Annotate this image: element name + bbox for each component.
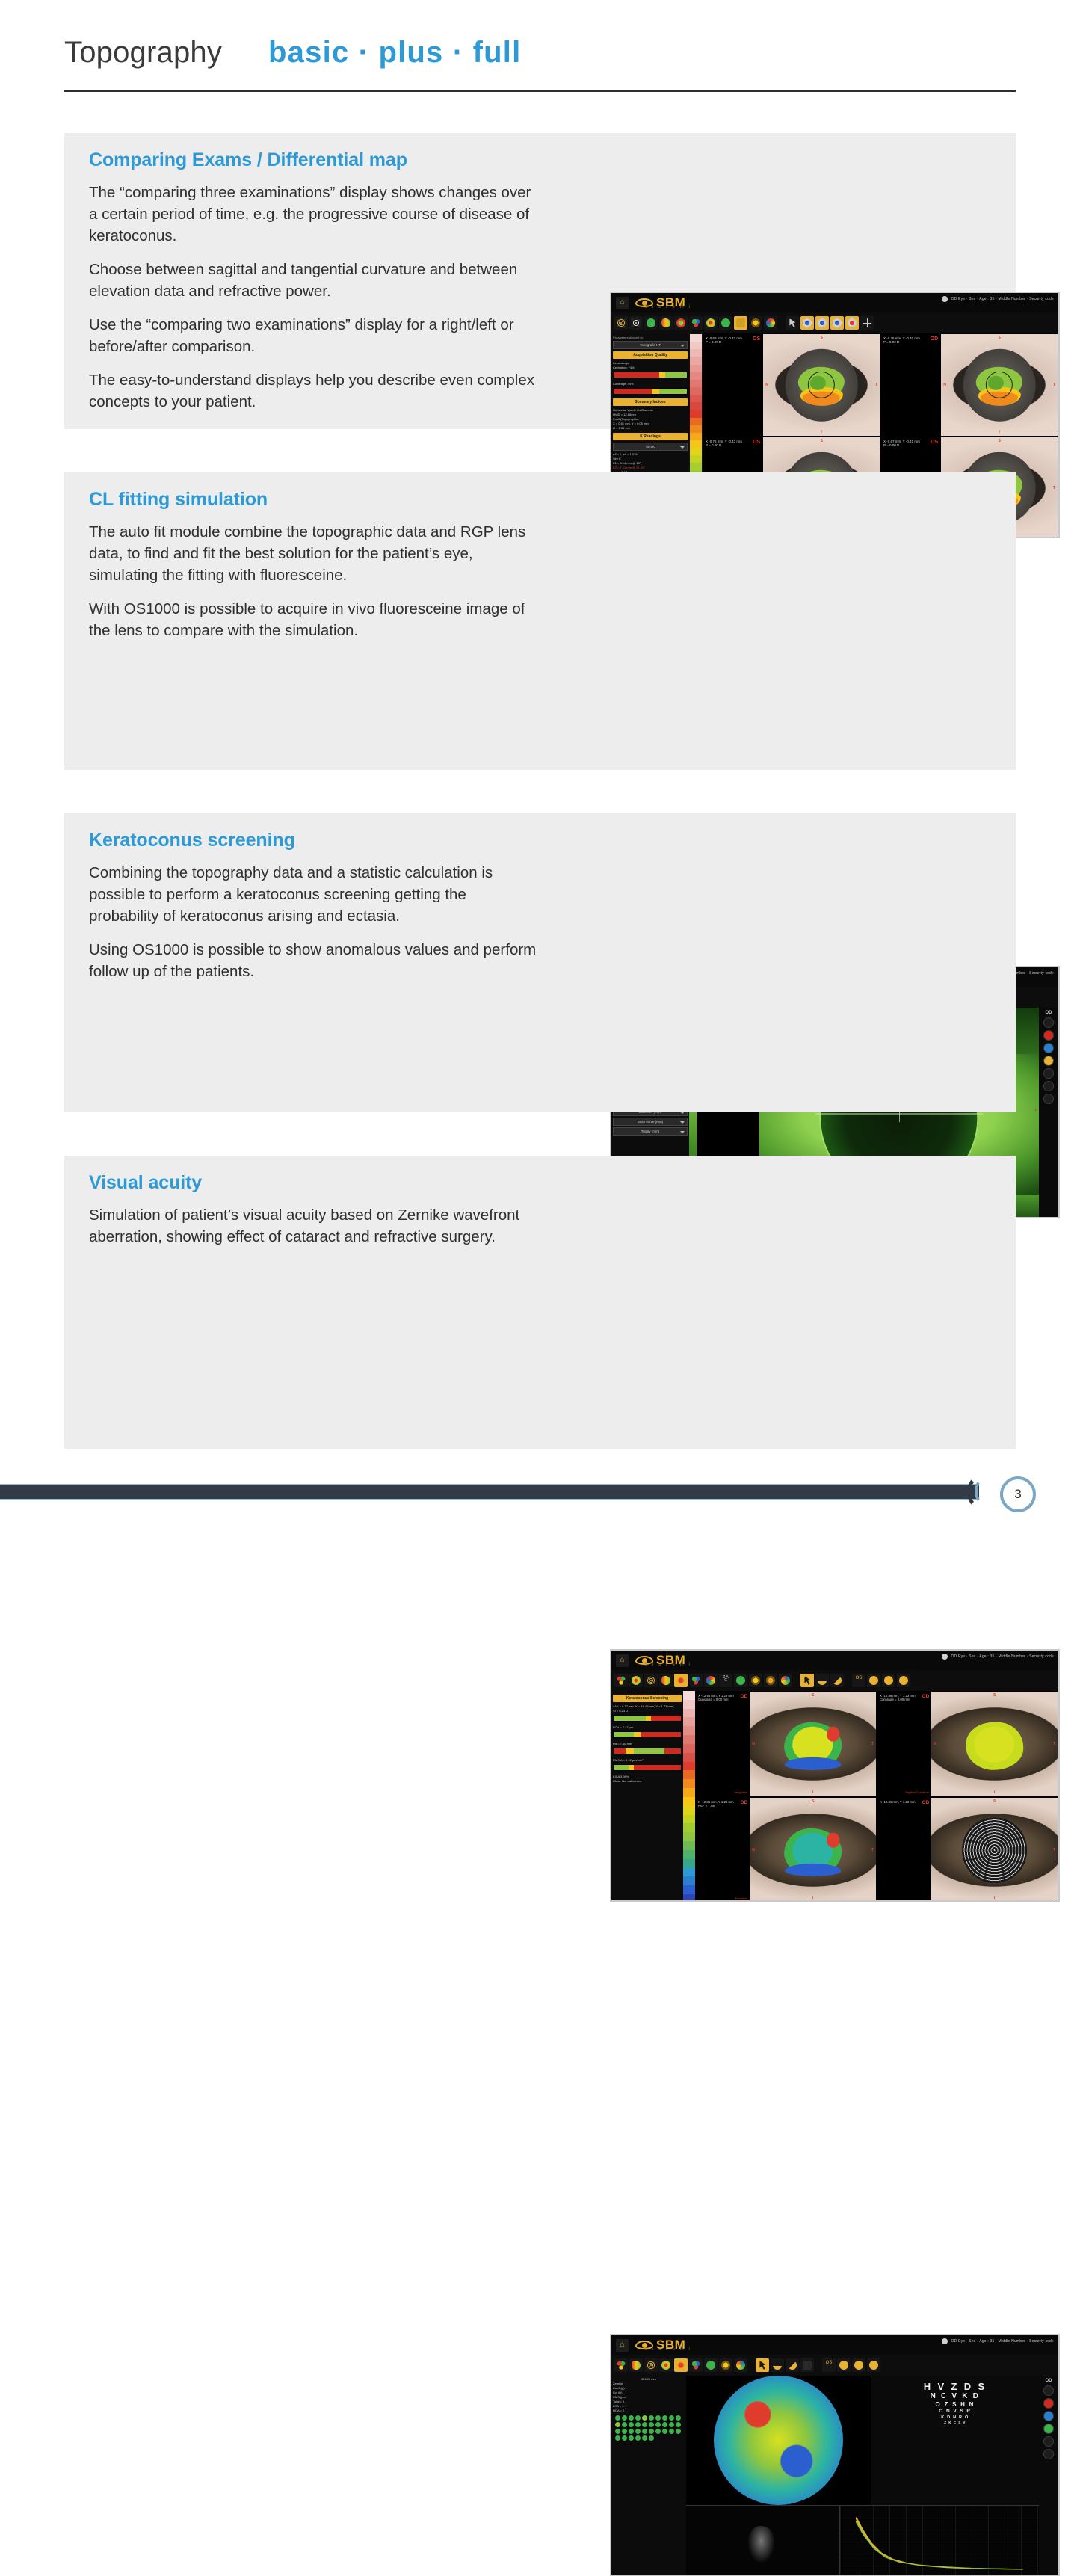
keratoconus-sidebar[interactable]: Keratoconus Screening • AK = 6.77 mm (K … (611, 1691, 683, 1902)
section-heading: Comparing Exams / Differential map (89, 150, 537, 171)
tool-map-view-4-icon[interactable] (845, 316, 859, 330)
rail-grid-icon[interactable] (1043, 1056, 1054, 1066)
tool-placido-icon[interactable] (614, 316, 628, 330)
section-panel-cl-fitting: CL fitting simulation The auto fit modul… (64, 472, 1016, 770)
orientation-temporal: T (1053, 1848, 1055, 1852)
orientation-temporal: T (871, 1848, 874, 1852)
orientation-inferior: I (994, 1896, 995, 1901)
header-divider (64, 90, 1016, 92)
orientation-nasal: N (765, 383, 768, 387)
tool-map-view-2-icon[interactable] (815, 316, 829, 330)
tool-map-view-1-icon[interactable] (800, 316, 814, 330)
map-readout: X -12.95 mm, Y 1.29 mm Curvature = 0.00 … (696, 1692, 750, 1796)
eye-label: OD (741, 1694, 748, 1699)
tool-angle-icon[interactable] (830, 1674, 844, 1687)
titlebar-patient-info: OD Eye · Sex · Age : 35 · Middle Number … (942, 1654, 1054, 1660)
rail-zoom-out-icon[interactable] (1043, 1081, 1054, 1091)
section-paragraph: The easy-to-understand displays help you… (89, 369, 537, 413)
tool-export-icon[interactable] (867, 1674, 880, 1687)
orientation-inferior: I (999, 430, 999, 434)
topography-map-image[interactable]: S I N T (931, 1692, 1058, 1796)
si-bar (613, 1715, 682, 1722)
tool-keratoconus-icon[interactable] (674, 1674, 688, 1687)
wavefront-map[interactable] (686, 2376, 871, 2505)
map-readout: X -0.59 mm, Y -0.47 mm P = 0.00 D OS (703, 334, 763, 436)
orientation-inferior: I (994, 1790, 995, 1795)
tool-meridian-icon[interactable] (659, 1674, 673, 1687)
tool-color-wheel-icon[interactable] (764, 316, 777, 330)
rail-zoom-in-icon[interactable] (1043, 2436, 1054, 2447)
tool-pupil-icon[interactable] (704, 316, 718, 330)
section-paragraph: Simulation of patient’s visual acuity ba… (89, 1204, 537, 1248)
eye-chart-row: Z K C S V (944, 2421, 966, 2425)
eye-chart-row: N C V K D (931, 2393, 980, 2400)
tool-multi-map-icon[interactable] (674, 316, 688, 330)
tool-rainbow-icon[interactable] (779, 1674, 792, 1687)
orientation-temporal: T (1034, 1109, 1037, 1114)
summary-line: Ø = 2.54 mm (613, 426, 688, 431)
quality-label: Centration: 74% (613, 366, 688, 370)
topography-map-image[interactable]: S I N T (941, 334, 1058, 436)
home-icon[interactable]: ⌂ (616, 1654, 629, 1667)
tool-cursor-icon[interactable] (786, 316, 799, 330)
rail-save-icon[interactable] (1043, 1043, 1054, 1053)
page-header: Topography basic · plus · full (64, 36, 1016, 94)
rail-grid-icon[interactable] (1043, 2424, 1054, 2434)
orientation-temporal: T (1053, 383, 1055, 387)
section-heading: Keratoconus screening (89, 830, 537, 851)
tool-export-icon[interactable] (837, 2358, 851, 2372)
orientation-superior: S (812, 1799, 814, 1804)
user-icon (942, 2338, 948, 2344)
toolbar[interactable]: OS (611, 2355, 1058, 2376)
tool-multi-map-icon[interactable] (614, 1674, 628, 1687)
map-caption: Tangential (734, 1790, 747, 1794)
orientation-temporal: T (875, 383, 877, 387)
section-heading: CL fitting simulation (89, 489, 537, 511)
page-number: 3 (1000, 1476, 1036, 1512)
topography-map-image[interactable]: S I N T (750, 1798, 876, 1902)
base-curve-field[interactable]: Base curve (mm) (613, 1118, 688, 1126)
rail-settings-icon[interactable] (1043, 2385, 1054, 2396)
section-paragraph: Combining the topography data and a stat… (89, 862, 537, 927)
section-paragraph: The “comparing three examinations” displ… (89, 182, 537, 247)
eye-label: OD (1046, 2379, 1052, 2383)
map-cell[interactable]: X -12.86 mm, Y 1.23 mm REF = 7.88 OD Ele… (695, 1797, 877, 1902)
orientation-nasal: N (752, 1848, 755, 1852)
tool-color-wheel-icon[interactable] (704, 1674, 718, 1687)
toolbar[interactable] (611, 312, 1058, 333)
app-titlebar: ⌂ SBM S i s t e m i OD Eye · Sex · Age :… (611, 2335, 1058, 2355)
eye-label: OS (753, 440, 760, 445)
orientation-inferior: I (812, 1896, 813, 1901)
home-icon[interactable]: ⌂ (616, 2339, 629, 2352)
k-readings-dropdown[interactable]: Sim K (613, 443, 688, 451)
rail-record-icon[interactable] (1043, 1030, 1054, 1041)
tool-meridian-icon[interactable] (659, 316, 673, 330)
app-titlebar: ⌂ SBM S i s t e m i OD Eye · Sex · Age :… (611, 1651, 1058, 1670)
orientation-superior: S (812, 1693, 814, 1698)
eye-label: OD (741, 1800, 748, 1805)
tool-green-map-icon[interactable] (644, 316, 658, 330)
tool-pupil-icon[interactable] (659, 2358, 673, 2372)
centration-bar (613, 372, 688, 378)
section-text-block: Comparing Exams / Differential map The “… (89, 150, 537, 413)
orientation-temporal: T (1053, 1742, 1055, 1746)
placido-image[interactable]: S I T (931, 1798, 1058, 1902)
tool-multi-map-icon[interactable] (614, 2358, 628, 2372)
rd-bar (613, 1748, 682, 1754)
app-subtitle: S i s t e m i (644, 2347, 691, 2352)
map-readout: X -0.76 mm, Y -0.40 mm P = 0.00 D OD (881, 334, 941, 436)
section-header-summary-indices[interactable]: Summary Indices (613, 398, 688, 406)
tool-rings-icon[interactable] (629, 316, 643, 330)
section-paragraph: Choose between sagittal and tangential c… (89, 259, 537, 302)
section-text-block: CL fitting simulation The auto fit modul… (89, 489, 537, 641)
sidebar-label: Parameters allowed to: (613, 336, 688, 339)
stat-line: Class: Normal cornea (613, 1779, 682, 1784)
map-cell[interactable]: X -12.86 mm, Y 1.23 mm OD S I T (877, 1797, 1058, 1902)
orientation-superior: S (820, 336, 822, 340)
map-readout: X -12.86 mm, Y 1.23 mm OD (877, 1798, 931, 1902)
orientation-superior: S (820, 439, 822, 443)
orientation-temporal: T (1053, 486, 1055, 490)
tool-cursor-icon[interactable] (756, 2358, 769, 2372)
eye-label: OD (931, 336, 939, 342)
rail-save-icon[interactable] (1043, 2411, 1054, 2421)
section-text-block: Visual acuity Simulation of patient’s vi… (89, 1172, 537, 1248)
mtf-curve (856, 2515, 1023, 2570)
map-cell[interactable]: X -12.86 mm, Y 1.23 mm Curvature = 0.00 … (877, 1691, 1058, 1797)
tool-three-circles-icon[interactable] (689, 2358, 703, 2372)
header-tagline: basic · plus · full (268, 36, 521, 70)
map-cell[interactable]: X -0.76 mm, Y -0.40 mm P = 0.00 D OD S I… (880, 333, 1058, 437)
app-titlebar: ⌂ SBM S i s t e m i OD Eye · Sex · Age :… (611, 293, 1058, 312)
eye-label: OD (922, 1800, 930, 1805)
footer-bar (0, 1484, 979, 1500)
orientation-nasal: N (934, 1742, 936, 1746)
eye-label: OS (931, 440, 938, 445)
tool-stepper-icon[interactable] (800, 2358, 814, 2372)
eye-label: OD (922, 1694, 930, 1699)
app-subtitle: S i s t e m i (644, 305, 691, 309)
topography-map-image[interactable]: S I N T (763, 334, 880, 436)
tool-placido-icon[interactable] (644, 1674, 658, 1687)
tool-three-circles-icon[interactable] (689, 1674, 703, 1687)
section-paragraph: The auto fit module combine the topograp… (89, 521, 537, 586)
eye-chart-row: O N V S R (939, 2409, 971, 2415)
tool-chart-icon[interactable] (771, 2358, 784, 2372)
totally-field[interactable]: Totally (mm) (613, 1127, 688, 1136)
titlebar-patient-info: OD Eye · Sex · Age : 35 · Middle Number … (942, 296, 1054, 302)
map-type-dropdown[interactable]: Topografic HT (613, 341, 688, 349)
tool-faces-icon[interactable] (749, 316, 762, 330)
section-header-keratoconus-screening[interactable]: Keratoconus Screening (613, 1695, 682, 1702)
tool-faces-icon[interactable] (719, 2358, 732, 2372)
eye-chart[interactable]: H V Z D S N C V K D O Z S H N O N V S R … (871, 2376, 1039, 2505)
keratoconus-color-scale (683, 1691, 695, 1902)
tool-zernike-icon[interactable] (674, 2358, 688, 2372)
coverage-bar (613, 388, 688, 395)
tool-meridian-icon[interactable] (629, 2358, 643, 2372)
section-heading: Visual acuity (89, 1172, 537, 1194)
orientation-superior: S (993, 1693, 996, 1698)
tool-pdf-icon[interactable] (882, 1674, 895, 1687)
stat-line: SI = 6.23 D (613, 1709, 682, 1713)
rail-record-icon[interactable] (1043, 2398, 1054, 2409)
user-icon (942, 1654, 948, 1660)
orientation-nasal: N (943, 383, 946, 387)
tool-settings-icon[interactable] (897, 1674, 910, 1687)
viewer-tool-rail[interactable]: OD (1039, 1008, 1058, 1218)
stat-line: BCV = 7.47 µm (613, 1725, 682, 1730)
stat-line: Rd = 7.66 mm (613, 1742, 682, 1746)
tool-cursor-icon[interactable] (800, 1674, 814, 1687)
mtf-graph[interactable] (840, 2506, 1039, 2576)
eye-chart-row: O Z S H N (935, 2402, 975, 2408)
tool-placido-icon[interactable] (644, 2358, 658, 2372)
orientation-temporal: T (871, 1742, 874, 1746)
tool-map-view-3-icon[interactable] (830, 316, 844, 330)
visual-acuity-workspace: H V Z D S N C V K D O Z S H N O N V S R … (686, 2376, 1039, 2576)
tool-settings-icon[interactable] (867, 2358, 880, 2372)
tool-angle-icon[interactable] (786, 2358, 799, 2372)
tool-chart-icon[interactable] (815, 1674, 829, 1687)
software-screenshot-keratoconus: ⌂ SBM S i s t e m i OD Eye · Sex · Age :… (610, 1649, 1060, 1902)
tool-compare-icon[interactable] (734, 316, 747, 330)
section-panel-keratoconus: Keratoconus screening Combining the topo… (64, 813, 1016, 1112)
rail-gear-icon[interactable] (1043, 1094, 1054, 1104)
app-subtitle: S i s t e m i (644, 1663, 691, 1667)
map-caption: Sagittal Curvature (905, 1790, 929, 1794)
section-header-k-readings[interactable]: K Readings (613, 433, 688, 440)
eye-label: OS (753, 336, 760, 342)
tool-green-disc-icon[interactable] (704, 2358, 718, 2372)
rms-bar (613, 1764, 682, 1771)
zernike-sidebar[interactable]: Ø 6.00 mm Zernike Coeff.(µ) Cyl (D) RMS … (611, 2376, 686, 2576)
tool-os-icon[interactable]: OS (822, 2358, 836, 2372)
eye-chart-row: H V Z D S (924, 2382, 987, 2391)
tool-faces-2-icon[interactable] (764, 1674, 777, 1687)
titlebar-patient-info: OD Eye · Sex · Age : 35 · Middle Number … (942, 2338, 1054, 2344)
zernike-pyramid (613, 2413, 685, 2443)
psf-preview[interactable] (686, 2506, 840, 2576)
page-title: Topography (64, 36, 222, 70)
rail-zoom-in-icon[interactable] (1043, 1068, 1054, 1079)
section-text-block: Keratoconus screening Combining the topo… (89, 830, 537, 982)
keratoconus-map-grid: X -12.95 mm, Y 1.29 mm Curvature = 0.00 … (695, 1691, 1058, 1902)
orientation-nasal: N (752, 1742, 755, 1746)
section-paragraph: Using OS1000 is possible to show anomalo… (89, 939, 537, 982)
tool-faces-icon[interactable] (749, 1674, 762, 1687)
topography-map-image[interactable]: S I N T (750, 1692, 876, 1796)
home-icon[interactable]: ⌂ (616, 297, 629, 309)
tool-zernike-icon[interactable]: Z A C (719, 1674, 732, 1687)
map-caption: Elevation (735, 1896, 747, 1900)
rail-gear-icon[interactable] (1043, 2449, 1054, 2459)
section-panel-comparing-exams: Comparing Exams / Differential map The “… (64, 133, 1016, 429)
user-icon (942, 296, 948, 302)
quality-label: Coverage: 44% (613, 382, 688, 386)
section-paragraph: Use the “comparing two examinations” dis… (89, 314, 537, 357)
tool-green-disc-icon[interactable] (719, 316, 732, 330)
orientation-superior: S (998, 439, 1000, 443)
orientation-superior: S (993, 1799, 996, 1804)
rail-settings-icon[interactable] (1043, 1017, 1054, 1028)
stat-line: RMS/A = 5.12 µm/mm² (613, 1758, 682, 1763)
viewer-tool-rail[interactable]: OD (1039, 2376, 1058, 2576)
section-paragraph: With OS1000 is possible to acquire in vi… (89, 598, 537, 641)
map-cell[interactable]: X -0.59 mm, Y -0.47 mm P = 0.00 D OS S I… (703, 333, 880, 437)
map-readout: X -12.86 mm, Y 1.23 mm Curvature = 0.00 … (877, 1692, 931, 1796)
map-cell[interactable]: X -12.95 mm, Y 1.29 mm Curvature = 0.00 … (695, 1691, 877, 1797)
eye-label: OD (1046, 1011, 1052, 1015)
section-panel-visual-acuity: Visual acuity Simulation of patient’s vi… (64, 1156, 1016, 1449)
tool-pdf-icon[interactable] (852, 2358, 865, 2372)
toolbar[interactable]: Z A C OS (611, 1670, 1058, 1691)
orientation-superior: S (998, 336, 1000, 340)
tool-green-disc-icon[interactable] (734, 1674, 747, 1687)
eye-chart-row: K D N R O (941, 2416, 969, 2421)
tool-three-circles-icon[interactable] (689, 316, 703, 330)
tool-rainbow-icon[interactable] (734, 2358, 747, 2372)
bcv-bar (613, 1731, 682, 1738)
orientation-inferior: I (821, 430, 821, 434)
tool-crosshair-icon[interactable] (860, 316, 874, 330)
tool-pupil-icon[interactable] (629, 1674, 643, 1687)
software-screenshot-visual-acuity: ⌂ SBM S i s t e m i OD Eye · Sex · Age :… (610, 2334, 1060, 2576)
section-header-acquisition-quality[interactable]: Acquisition Quality (613, 351, 688, 359)
tool-os-icon[interactable]: OS (852, 1674, 865, 1687)
orientation-inferior: I (812, 1790, 813, 1795)
map-readout: X -12.86 mm, Y 1.23 mm REF = 7.88 OD Ele… (696, 1798, 750, 1902)
